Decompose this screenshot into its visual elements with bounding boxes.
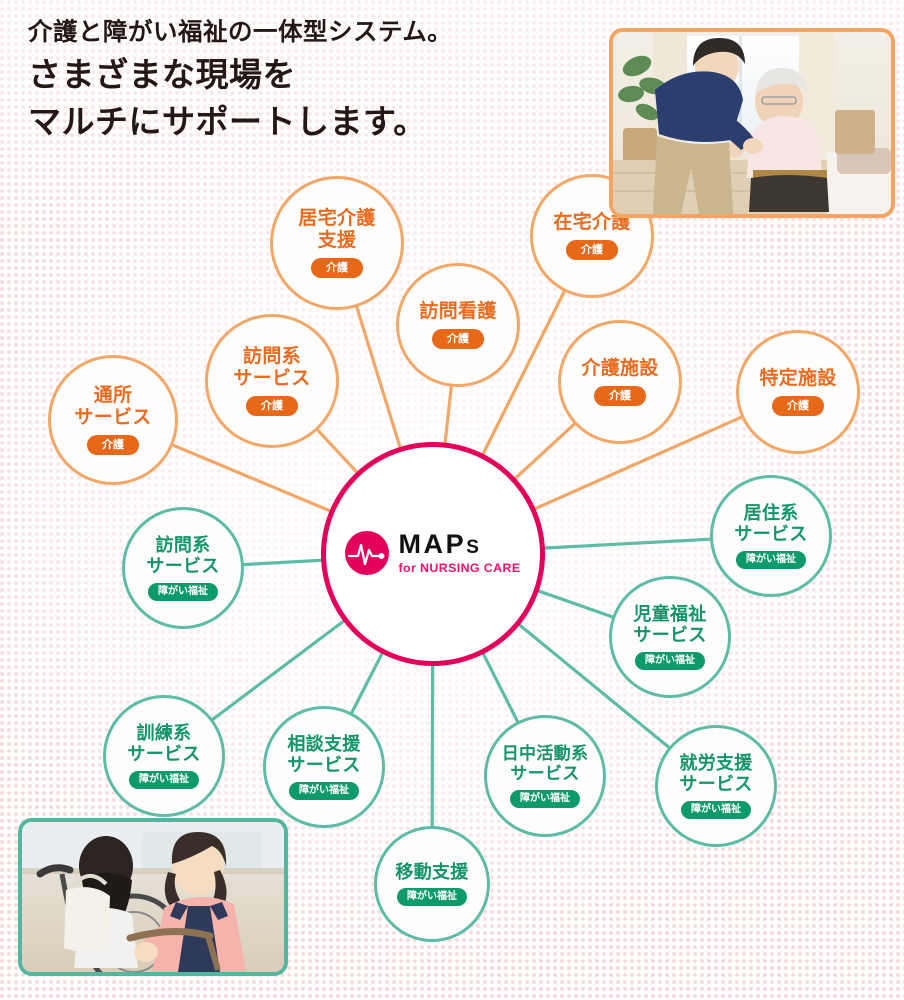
service-node-nicchu-katsudo-kei[interactable]: 日中活動系 サービス障がい福祉	[484, 715, 606, 837]
service-node-jido-fukushi-service[interactable]: 児童福祉 サービス障がい福祉	[609, 576, 731, 698]
infographic-canvas: 介護と障がい福祉の一体型システム。 さまざまな現場を マルチにサポートします。	[0, 0, 904, 1000]
hub-maps-logo[interactable]: MAPS for NURSING CARE	[321, 442, 545, 666]
service-node-homon-kango[interactable]: 訪問看護介護	[396, 263, 520, 387]
connector-line-kyoju-kei-service	[541, 539, 713, 548]
heartbeat-pulse-icon	[345, 531, 389, 575]
service-node-kunren-kei-service[interactable]: 訓練系 サービス障がい福祉	[103, 695, 225, 817]
connector-line-homon-kango	[445, 384, 452, 447]
service-category-badge: 介護	[772, 396, 824, 416]
connector-line-tsusho-service	[170, 444, 333, 512]
logo-wordmark: MAPS	[398, 531, 520, 558]
service-category-badge: 介護	[87, 435, 139, 455]
headline-line-2: マルチにサポートします。	[28, 100, 452, 144]
service-category-badge: 障がい福祉	[129, 771, 199, 789]
service-category-badge: 障がい福祉	[289, 782, 359, 800]
service-category-badge: 介護	[594, 386, 646, 406]
headline-block: 介護と障がい福祉の一体型システム。 さまざまな現場を マルチにサポートします。	[28, 18, 452, 144]
service-node-kaigo-shisetsu[interactable]: 介護施設介護	[558, 320, 682, 444]
connector-line-homon-kei-service-welfare	[241, 560, 325, 565]
photo-caregiver-elderly	[609, 28, 895, 218]
service-category-badge: 介護	[566, 240, 618, 260]
service-node-label: 移動支援	[395, 862, 468, 883]
service-node-ido-shien[interactable]: 移動支援障がい福祉	[374, 826, 490, 942]
service-category-badge: 障がい福祉	[681, 801, 751, 819]
service-node-label: 居宅介護 支援	[298, 208, 375, 252]
service-node-label: 就労支援 サービス	[679, 753, 752, 795]
service-category-badge: 障がい福祉	[397, 888, 467, 906]
connector-line-kyotaku-kaigo-shien	[356, 304, 401, 451]
connector-line-sodan-shien-service	[350, 650, 383, 715]
connector-line-homon-kei-service	[316, 428, 360, 475]
logo-tagline: for NURSING CARE	[398, 562, 520, 574]
service-node-sodan-shien-service[interactable]: 相談支援 サービス障がい福祉	[263, 706, 385, 828]
service-category-badge: 障がい福祉	[148, 583, 218, 601]
service-node-kyoju-kei-service[interactable]: 居住系 サービス障がい福祉	[710, 475, 832, 597]
logo-text: MAPS for NURSING CARE	[398, 531, 520, 574]
service-node-label: 訓練系 サービス	[127, 723, 200, 765]
connector-line-nicchu-katsudo-kei	[482, 650, 519, 724]
service-node-homon-kei-service-welfare[interactable]: 訪問系 サービス障がい福祉	[122, 507, 244, 629]
service-node-label: 児童福祉 サービス	[633, 604, 706, 646]
connector-line-ido-shien	[432, 662, 433, 829]
service-node-label: 通所 サービス	[74, 385, 151, 429]
service-node-label: 相談支援 サービス	[287, 734, 360, 776]
service-category-badge: 障がい福祉	[736, 551, 806, 569]
service-node-label: 介護施設	[581, 358, 658, 380]
maps-logo: MAPS for NURSING CARE	[345, 531, 520, 575]
service-category-badge: 障がい福祉	[510, 790, 580, 808]
headline-subtitle: 介護と障がい福祉の一体型システム。	[28, 18, 452, 49]
service-node-label: 特定施設	[759, 368, 836, 390]
service-category-badge: 介護	[246, 396, 298, 416]
service-node-label: 訪問系 サービス	[146, 535, 219, 577]
service-node-label: 居住系 サービス	[734, 503, 807, 545]
service-category-badge: 介護	[311, 258, 363, 278]
service-node-homon-kei-service[interactable]: 訪問系 サービス介護	[205, 314, 339, 448]
connector-line-jido-fukushi-service	[535, 590, 615, 618]
service-node-label: 訪問系 サービス	[233, 346, 310, 390]
photo-caregiver-wheelchair	[18, 818, 288, 976]
service-category-badge: 障がい福祉	[635, 652, 705, 670]
service-node-label: 訪問看護	[419, 301, 496, 323]
service-node-tsusho-service[interactable]: 通所 サービス介護	[48, 355, 178, 485]
service-category-badge: 介護	[432, 329, 484, 349]
service-node-kyotaku-kaigo-shien[interactable]: 居宅介護 支援介護	[270, 176, 404, 310]
service-node-label: 日中活動系 サービス	[502, 744, 589, 783]
headline-line-1: さまざまな現場を	[28, 53, 452, 97]
service-node-tokutei-shisetsu[interactable]: 特定施設介護	[736, 330, 860, 454]
connector-line-kaigo-shisetsu	[512, 422, 576, 481]
service-node-shuro-shien-service[interactable]: 就労支援 サービス障がい福祉	[655, 725, 777, 847]
